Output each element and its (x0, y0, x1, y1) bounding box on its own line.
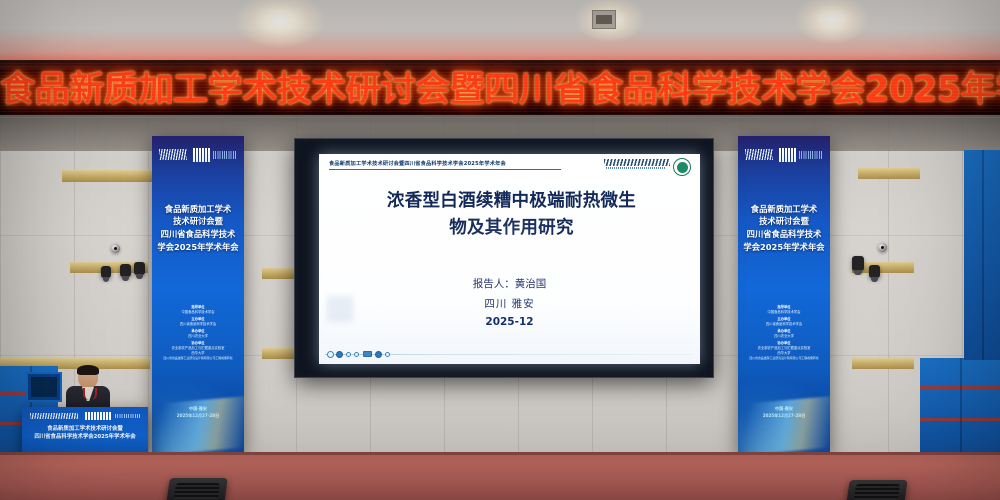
air-vent-box (26, 372, 62, 402)
stage-spotlight-left-3 (101, 266, 111, 278)
toolbar-record-icon[interactable] (336, 351, 343, 358)
sicau-logo-icon (159, 149, 187, 160)
banner-left-wave-accent (152, 394, 244, 454)
podium-title-line2: 四川省食品科学技术学会2025年学术年会 (26, 433, 144, 441)
banner-title-line2: 技术研讨会暨 (742, 215, 827, 228)
security-camera-right (878, 243, 887, 252)
toolbar-circle-icon[interactable] (327, 351, 334, 358)
banner-title-line1: 食品新质加工学术 (742, 203, 827, 216)
stage-spotlight-left-2 (134, 262, 145, 275)
projection-screen-surface: 食品新质加工学术技术研讨会暨四川省食品科学技术学会2025年学术年会 浓香型白酒… (319, 154, 700, 364)
banner-title-line4: 学会2025年学术年会 (742, 241, 827, 254)
wall-trim-ceiling-right (858, 168, 920, 179)
rollup-banner-left: 食品新质加工学术 技术研讨会暨 四川省食品科学技术 学会2025年学术年会 指导… (152, 136, 244, 454)
toolbar-pen-icon[interactable] (346, 352, 351, 357)
org-extra-2: 四川省食品发酵工业研究设计院有限公司工程成果转化 (158, 356, 239, 361)
wall-padding-right (920, 358, 1000, 458)
slide-title: 浓香型白酒续糟中极端耐热微生 物及其作用研究 (337, 188, 686, 242)
podium-logo-row (30, 412, 140, 420)
led-banner: 食品新质加工学术技术研讨会暨四川省食品科学技术学会2025年学术年会 (0, 60, 1000, 118)
stage-spotlight-right-2 (852, 256, 864, 271)
rollup-banner-right: 食品新质加工学术 技术研讨会暨 四川省食品科学技术 学会2025年学术年会 指导… (738, 136, 830, 454)
wall-trim-ceiling-left (62, 170, 152, 182)
banner-right-wave-accent (738, 394, 830, 454)
stage-spotlight-right-1 (869, 265, 880, 278)
wall-padding-right-far (964, 150, 1000, 360)
org-body-0: 中国食品科学技术学会 (158, 310, 239, 315)
toolbar-menu-icon[interactable] (375, 351, 382, 358)
sicau-logo-icon (30, 413, 78, 419)
banner-title-line4: 学会2025年学术年会 (156, 241, 241, 254)
sifst-logo-icon (193, 148, 210, 162)
toolbar-pointer-icon[interactable] (354, 352, 359, 357)
sicau-logo-icon (745, 149, 773, 160)
slide-header-rule (329, 169, 561, 170)
banner-left-title: 食品新质加工学术 技术研讨会暨 四川省食品科学技术 学会2025年学术年会 (156, 203, 241, 253)
banner-title-line3: 四川省食品科学技术 (742, 228, 827, 241)
toolbar-slide-icon[interactable] (363, 351, 372, 357)
banner-left-organizers: 指导单位 中国食品科学技术学会 主办单位 四川省食品科学技术学会 承办单位 四川… (158, 305, 239, 362)
slide-header: 食品新质加工学术技术研讨会暨四川省食品科学技术学会2025年学术年会 (329, 160, 692, 180)
banner-title-line2: 技术研讨会暨 (156, 215, 241, 228)
led-banner-text: 食品新质加工学术技术研讨会暨四川省食品科学技术学会2025年学术年会 (0, 67, 1000, 113)
university-logo-emblem-icon (673, 158, 691, 176)
stage-front-edge (0, 452, 1000, 455)
university-logo-subtext-icon (606, 167, 666, 169)
org-body-2: 四川农业大学 (158, 334, 239, 339)
projection-screen: 食品新质加工学术技术研讨会暨四川省食品科学技术学会2025年学术年会 浓香型白酒… (295, 139, 713, 377)
society-name-logo-icon (213, 151, 236, 160)
society-name-logo-icon (799, 151, 822, 160)
podium-title-line1: 食品新质加工学术技术研讨会暨 (26, 425, 144, 433)
org-body-1: 四川省食品科学技术学会 (744, 322, 825, 327)
slide-presenter: 报告人：黄治国 (319, 274, 700, 294)
projection-hotspot-artifact (327, 296, 353, 322)
slide-title-line1: 浓香型白酒续糟中极端耐热微生 (337, 188, 686, 215)
stage-spotlight-left-1 (120, 264, 131, 277)
presentation-slide: 食品新质加工学术技术研讨会暨四川省食品科学技术学会2025年学术年会 浓香型白酒… (319, 154, 700, 364)
stage-monitor-right (846, 480, 907, 500)
toolbar-more-icon[interactable] (385, 352, 390, 357)
banner-right-title: 食品新质加工学术 技术研讨会暨 四川省食品科学技术 学会2025年学术年会 (742, 203, 827, 253)
slide-title-line2: 物及其作用研究 (337, 215, 686, 242)
banner-title-line1: 食品新质加工学术 (156, 203, 241, 216)
slide-date: 2025-12 (319, 316, 700, 328)
slide-presenter-block: 报告人：黄治国 四川 雅安 (319, 274, 700, 314)
speaker-hair (77, 365, 99, 375)
slide-header-title: 食品新质加工学术技术研讨会暨四川省食品科学技术学会2025年学术年会 (329, 160, 506, 167)
stage-monitor-left (166, 478, 228, 500)
slide-location: 四川 雅安 (319, 294, 700, 314)
org-body-0: 中国食品科学技术学会 (744, 310, 825, 315)
sifst-logo-icon (85, 412, 111, 420)
ceiling-vent-fixture (592, 10, 616, 29)
speaker-lanyard (83, 388, 97, 400)
university-logo (604, 159, 670, 172)
banner-right-logo-row (745, 147, 822, 164)
org-extra-2: 四川省食品发酵工业研究设计院有限公司工程成果转化 (744, 356, 825, 361)
banner-left-logo-row (159, 147, 236, 164)
society-name-logo-icon (115, 414, 140, 418)
org-body-2: 四川农业大学 (744, 334, 825, 339)
conference-hall-photo: 食品新质加工学术技术研讨会暨四川省食品科学技术学会2025年学术年会 (0, 0, 1000, 500)
sifst-logo-icon (779, 148, 796, 162)
org-body-1: 四川省食品科学技术学会 (158, 322, 239, 327)
presentation-toolbar (325, 349, 694, 358)
security-camera-left (111, 244, 120, 253)
wall-trim-right-lower (852, 358, 914, 369)
banner-right-organizers: 指导单位 中国食品科学技术学会 主办单位 四川省食品科学技术学会 承办单位 四川… (744, 305, 825, 362)
podium-title: 食品新质加工学术技术研讨会暨 四川省食品科学技术学会2025年学术年会 (26, 425, 144, 441)
banner-title-line3: 四川省食品科学技术 (156, 228, 241, 241)
university-logo-wordmark-icon (604, 159, 670, 166)
